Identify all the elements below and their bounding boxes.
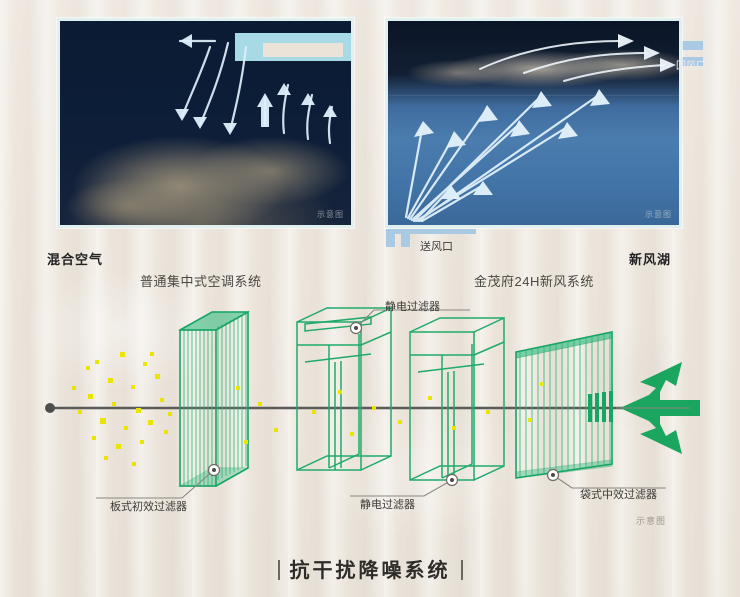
photo-watermark-left: 示意图 bbox=[317, 209, 344, 220]
stage-bag-filter bbox=[516, 332, 613, 478]
dust-particles-residual bbox=[236, 382, 544, 444]
supply-duct-horizontal bbox=[386, 229, 476, 234]
label-supply-air-outlet: 送风口 bbox=[420, 238, 453, 254]
title-bar-right bbox=[461, 560, 463, 580]
title-bar-left bbox=[278, 560, 280, 580]
supply-duct-left bbox=[386, 229, 395, 247]
photo-frame-right: 示意图 bbox=[385, 18, 682, 228]
callout-pleated-panel-filter: 板式初效过滤器 bbox=[110, 498, 187, 514]
bottom-title: 抗干扰降噪系统 bbox=[0, 554, 740, 583]
caption-mixed-air: 混合空气 bbox=[47, 249, 103, 268]
system-label-jinmao-fresh-air: 金茂府24H新风系统 bbox=[474, 271, 594, 290]
photo-fresh-air: 示意图 bbox=[385, 18, 682, 228]
photo-mixed-air: 示意图 bbox=[57, 18, 354, 228]
bottom-title-text: 抗干扰降噪系统 bbox=[290, 554, 451, 583]
axis-endpoint-left bbox=[45, 403, 55, 413]
photo-frame-left: 示意图 bbox=[57, 18, 354, 228]
callout-electrostatic-filter-top: 静电过滤器 bbox=[385, 298, 440, 314]
diagram-watermark: 示意图 bbox=[636, 514, 666, 527]
photo-image-right: 示意图 bbox=[388, 21, 679, 225]
stage-electrostatic-filter-1 bbox=[297, 308, 391, 470]
label-return-air-outlet: 回风口 bbox=[676, 57, 706, 72]
stage-electrostatic-filter-2 bbox=[410, 318, 504, 480]
photo-image-left: 示意图 bbox=[60, 21, 351, 225]
caption-fresh-air: 新风湖 bbox=[629, 249, 671, 268]
system-label-conventional-hvac: 普通集中式空调系统 bbox=[140, 271, 262, 290]
callout-electrostatic-filter-bottom: 静电过滤器 bbox=[360, 496, 415, 512]
photo-watermark-right: 示意图 bbox=[645, 209, 672, 220]
stage-pleated-panel-filter bbox=[180, 312, 248, 486]
return-duct-upper bbox=[681, 41, 703, 50]
callout-bag-filter: 袋式中效过滤器 bbox=[580, 486, 657, 502]
screenshot-stage: 示意图 混合空气 普通集中式空调系统 bbox=[0, 0, 740, 597]
supply-duct-right bbox=[401, 229, 410, 247]
